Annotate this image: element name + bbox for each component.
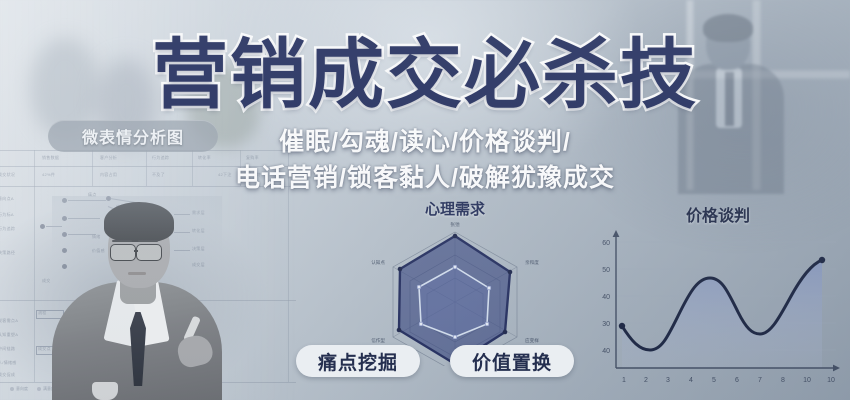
value-exchange-button[interactable]: 价值置换 — [450, 345, 574, 377]
x-tick-1: 2 — [644, 377, 648, 384]
x-tick-8: 10 — [803, 377, 811, 384]
x-tick-3: 4 — [689, 377, 693, 384]
x-tick-6: 7 — [758, 377, 762, 384]
radar-axis-label-0: 张弛 — [450, 221, 460, 228]
radar-axis-label-5: 认知点 — [371, 259, 385, 266]
presenter-photo-fade — [52, 196, 222, 400]
pain-point-button[interactable]: 痛点挖掘 — [296, 345, 420, 377]
radar-chart: 心理需求 — [340, 198, 570, 368]
line-chart-svg: 60 50 40 30 40 1 2 3 4 5 6 7 8 10 10 — [588, 216, 846, 388]
y-tick-0: 60 — [602, 240, 610, 247]
y-tick-2: 40 — [602, 294, 610, 301]
x-tick-4: 5 — [712, 377, 716, 384]
x-tick-5: 6 — [735, 377, 739, 384]
radar-axis-label-2: 应变样 — [525, 337, 539, 344]
x-tick-0: 1 — [622, 377, 626, 384]
page-title: 营销成交必杀技 — [0, 38, 850, 114]
pain-point-button-label: 痛点挖掘 — [318, 348, 398, 375]
x-tick-2: 3 — [666, 377, 670, 384]
radar-axis-label-4: 信作型 — [371, 337, 385, 344]
radar-chart-svg: 张弛 亲和度 应变样 张字信关 信作型 认知点 — [340, 214, 570, 366]
x-tick-7: 8 — [781, 377, 785, 384]
x-tick-9: 10 — [827, 377, 835, 384]
line-chart: 价格谈判 — [588, 198, 846, 388]
y-tick-3: 30 — [602, 321, 610, 328]
marketing-course-banner: 销售数据 客户分析 行为追踪 转化率 复购率 成交状况 42%件 内容占用 不及… — [0, 0, 850, 400]
subtitle-line-1: 催眠/勾魂/读心/价格谈判/ — [0, 122, 850, 158]
subtitle-line-2: 电话营销/锁客黏人/破解犹豫成交 — [0, 158, 850, 194]
value-exchange-button-label: 价值置换 — [472, 348, 552, 375]
y-tick-1: 50 — [602, 267, 610, 274]
y-tick-4: 40 — [602, 348, 610, 355]
radar-axis-label-1: 亲和度 — [525, 259, 539, 266]
